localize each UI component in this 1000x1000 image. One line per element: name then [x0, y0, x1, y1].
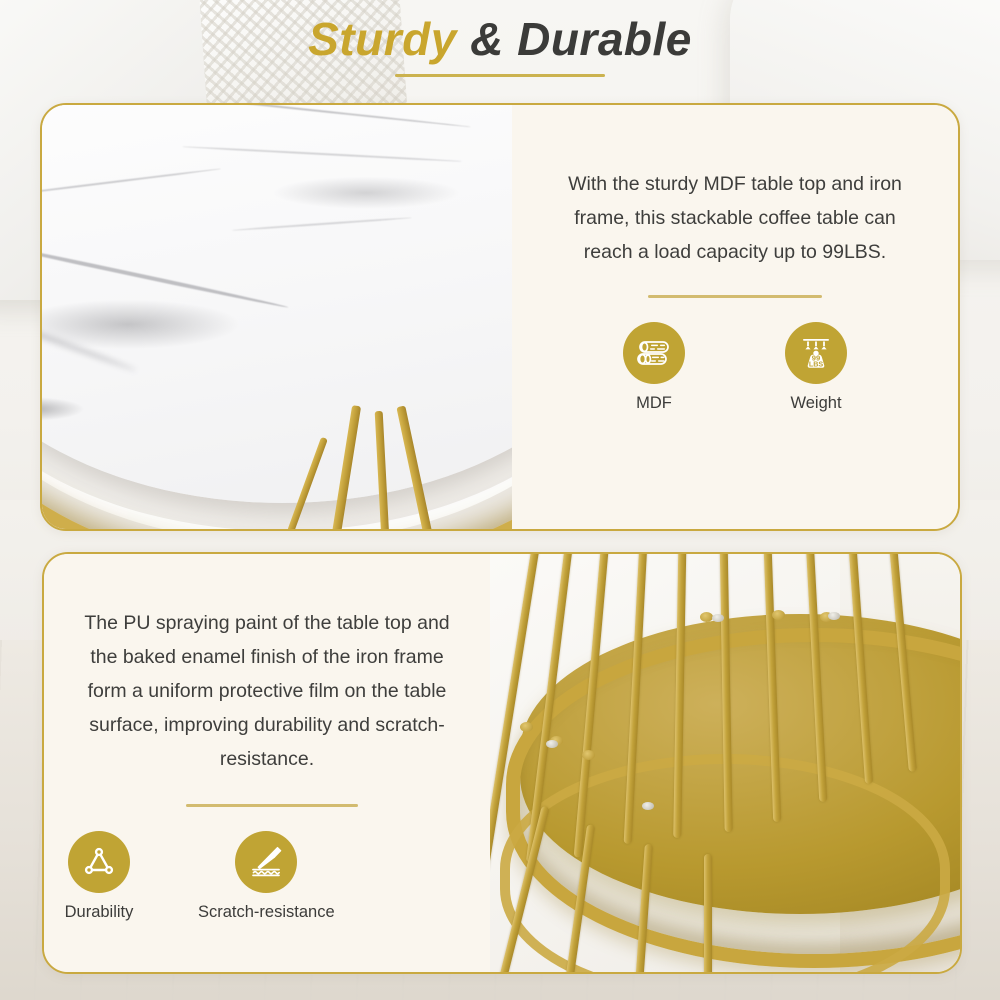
- feature-scratch-resistance: Scratch-resistance: [198, 831, 335, 922]
- screw: [828, 612, 840, 620]
- feature-panel-durability-scratch: The PU spraying paint of the table top a…: [42, 552, 962, 974]
- page-title-dark: & Durable: [470, 13, 692, 65]
- knife-scratch-icon-badge: [235, 831, 297, 893]
- panel-1-body-text: With the sturdy MDF table top and iron f…: [512, 105, 958, 269]
- panel-1-feature-list: MDF: [602, 322, 868, 413]
- panel-2-content: The PU spraying paint of the table top a…: [44, 554, 490, 972]
- feature-label-durability: Durability: [65, 903, 134, 922]
- panel-2-feature-list: Durability: [54, 831, 335, 922]
- screw: [546, 740, 558, 748]
- header: Sturdy & Durable: [0, 0, 1000, 96]
- panel-1-content: With the sturdy MDF table top and iron f…: [512, 105, 958, 529]
- screw: [642, 802, 654, 810]
- weight-load-icon: 99 LBS: [796, 333, 836, 373]
- triangle-molecule-icon-badge: [68, 831, 130, 893]
- weight-load-icon-badge: 99 LBS: [785, 322, 847, 384]
- infographic-stage: Sturdy & Durable With th: [0, 0, 1000, 1000]
- panel-1-divider: [648, 295, 822, 298]
- weight-unit: LBS: [809, 359, 824, 368]
- feature-label-mdf: MDF: [636, 394, 672, 413]
- feature-mdf: MDF: [602, 322, 706, 413]
- page-title: Sturdy & Durable: [0, 0, 1000, 66]
- triangle-molecule-icon: [79, 842, 119, 882]
- panel-2-divider: [186, 804, 358, 807]
- title-underline: [395, 74, 605, 77]
- stacked-logs-icon-badge: [623, 322, 685, 384]
- panel-2-body-text: The PU spraying paint of the table top a…: [44, 554, 490, 776]
- stacked-logs-icon: [634, 333, 674, 373]
- feature-durability: Durability: [54, 831, 144, 922]
- feature-weight: 99 LBS Weight: [764, 322, 868, 413]
- gold-table-rim-shadow: [42, 119, 512, 529]
- marble-table-top-photo: [42, 105, 512, 529]
- gold-wire-frame-shelf-photo: [490, 554, 960, 972]
- feature-panel-mdf-weight: With the sturdy MDF table top and iron f…: [40, 103, 960, 531]
- feature-label-scratch-resistance: Scratch-resistance: [198, 903, 335, 922]
- feature-label-weight: Weight: [790, 394, 841, 413]
- knife-scratch-icon: [246, 842, 286, 882]
- screw: [712, 614, 724, 622]
- page-title-gold: Sturdy: [308, 13, 457, 65]
